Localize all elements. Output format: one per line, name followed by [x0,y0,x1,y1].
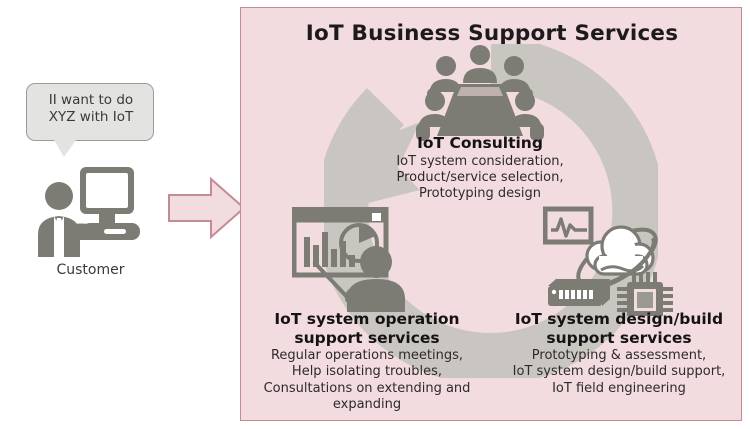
speech-bubble-text: II want to do XYZ with IoT [27,92,155,126]
speech-bubble: II want to do XYZ with IoT [26,83,154,141]
meeting-table-icon [413,44,547,142]
right-arrow-icon [168,176,246,240]
customer-label: Customer [8,262,173,278]
speech-bubble-tail [54,140,76,157]
customer-group: II want to do XYZ with IoT [8,78,188,308]
service-description-consulting: IoT system consideration, Product/servic… [371,154,589,203]
service-block-consulting: IoT Consulting IoT system consideration,… [371,134,589,202]
customer-at-computer-icon [28,166,148,258]
diagram-canvas: II want to do XYZ with IoT [0,0,750,429]
service-block-designbuild: IoT system design/build support services… [495,310,743,397]
presentation-analytics-icon [292,207,414,313]
service-title-consulting: IoT Consulting [371,134,589,153]
service-description-operation: Regular operations meetings, Help isolat… [243,348,491,413]
cloud-chip-server-icon [543,206,679,316]
page-title: IoT Business Support Services [241,21,743,46]
service-block-operation: IoT system operation support services Re… [243,310,491,413]
service-title-designbuild: IoT system design/build support services [495,310,743,347]
service-title-operation: IoT system operation support services [243,310,491,347]
service-description-designbuild: Prototyping & assessment, IoT system des… [495,348,743,397]
